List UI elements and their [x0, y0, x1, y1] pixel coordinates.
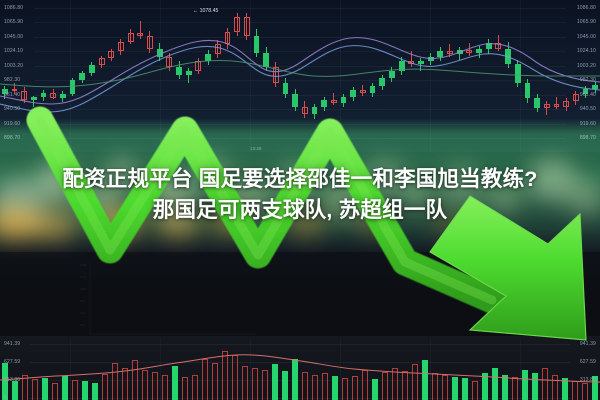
volume-bar	[252, 368, 258, 400]
price-axis-tick-label: 1045.00	[4, 34, 23, 40]
candle-body	[495, 43, 501, 49]
candle-body	[244, 17, 250, 36]
candle-body	[147, 36, 153, 48]
price-axis-tick-label: 1003.20	[577, 63, 596, 69]
ghost-chart-overlay: 108010401000 960920880	[80, 254, 260, 340]
candle-body	[312, 107, 318, 114]
volume-bar	[22, 375, 28, 400]
candle-body	[525, 83, 531, 98]
price-axis-tick-label: 982.30	[580, 77, 596, 83]
volume-grid-line-vertical	[160, 338, 161, 400]
volume-bar	[502, 375, 508, 400]
page-title: 配资正规平台 国足要选择邵佳一和李国旭当教练? 那国足可两支球队, 苏超组一队	[0, 164, 600, 226]
candle-body	[176, 67, 182, 75]
candle-body	[118, 42, 124, 52]
candle-body	[399, 61, 405, 71]
volume-bar	[492, 368, 498, 400]
volume-bar	[462, 378, 468, 400]
candle-body	[166, 57, 172, 67]
volume-bar	[132, 360, 138, 400]
volume-bar	[522, 370, 528, 400]
volume-bar	[182, 377, 188, 400]
volume-axis-tick-label: 627.59	[580, 359, 596, 365]
candle-body	[41, 93, 47, 97]
volume-bar	[372, 379, 378, 400]
volume-bar	[42, 378, 48, 400]
candle-body	[476, 49, 482, 53]
volume-bar	[172, 366, 178, 400]
volume-bar	[192, 375, 198, 400]
candle-body	[466, 50, 472, 53]
volume-bar	[392, 368, 398, 400]
candle-body	[273, 67, 279, 84]
volume-axis-tick-label: 941.39	[580, 341, 596, 347]
thumbnail-canvas: ← 1078.45 1086.801065.901045.001024.1010…	[0, 0, 600, 400]
volume-bar	[312, 375, 318, 400]
volume-bar	[72, 380, 78, 400]
svg-text:920: 920	[80, 311, 85, 315]
volume-bar	[472, 381, 478, 400]
candle-body	[234, 17, 240, 32]
volume-bar	[282, 371, 288, 400]
candle-body	[263, 53, 269, 67]
volume-bar	[202, 359, 208, 400]
candle-body	[205, 54, 211, 61]
volume-bar	[342, 378, 348, 400]
candle-wick	[140, 21, 141, 39]
svg-text:1000: 1000	[80, 287, 87, 291]
volume-bar	[352, 376, 358, 400]
candle-body	[89, 65, 95, 73]
candle-body	[108, 51, 114, 58]
price-axis-tick-label: 1003.20	[4, 63, 23, 69]
volume-bar	[102, 374, 108, 400]
volume-bar	[572, 381, 578, 400]
candle-body	[50, 93, 56, 98]
volume-bar	[82, 381, 88, 400]
volume-grid-line-vertical	[250, 338, 251, 400]
volume-bar	[302, 372, 308, 400]
volume-bar	[532, 373, 538, 400]
candle-body	[389, 71, 395, 78]
volume-bar	[92, 383, 98, 400]
price-axis-tick-label: 1045.00	[577, 34, 596, 40]
volume-bar	[512, 377, 518, 400]
volume-bar	[62, 376, 68, 400]
headline-line-1: 配资正规平台 国足要选择邵佳一和李国旭当教练?	[62, 167, 537, 191]
volume-grid-line-vertical	[430, 338, 431, 400]
volume-bar	[452, 377, 458, 400]
candle-body	[70, 80, 76, 93]
volume-bar	[12, 381, 18, 400]
candle-body	[554, 104, 560, 107]
volume-bar	[362, 370, 368, 400]
volume-axis-tick-label: 313.80	[4, 377, 20, 383]
volume-axis-tick-label: 941.39	[4, 341, 20, 347]
candle-body	[215, 44, 221, 54]
candle-body	[447, 51, 453, 54]
candle-body	[331, 100, 337, 103]
price-axis-tick-label: 1086.80	[577, 5, 596, 11]
candle-wick	[411, 51, 412, 66]
candle-body	[418, 61, 424, 64]
candle-body	[225, 32, 231, 44]
volume-bar	[322, 373, 328, 400]
candle-body	[157, 49, 163, 57]
price-axis-tick-label: 1024.10	[577, 48, 596, 54]
svg-text:960: 960	[80, 299, 85, 303]
candle-body	[254, 36, 260, 53]
volume-bar	[272, 364, 278, 400]
headline-line-2: 那国足可两支球队, 苏超组一队	[0, 195, 600, 226]
candle-body	[60, 94, 66, 98]
candle-body	[437, 51, 443, 57]
volume-bar	[422, 360, 428, 400]
price-axis-tick-label: 940.50	[4, 106, 20, 112]
volume-bar	[52, 383, 58, 400]
candle-body	[195, 61, 201, 71]
volume-bar	[542, 368, 548, 400]
candle-body	[360, 90, 366, 93]
volume-moving-average	[0, 336, 600, 400]
candle-body	[21, 91, 27, 100]
candle-body	[79, 73, 85, 81]
volume-bar	[562, 378, 568, 400]
volume-grid-line-vertical	[520, 338, 521, 400]
volume-bar	[32, 379, 38, 400]
svg-text:880: 880	[80, 323, 85, 327]
price-axis-tick-label: 1065.90	[4, 19, 23, 25]
candle-body	[428, 57, 434, 61]
volume-axis-tick-label: 0	[4, 395, 7, 400]
candle-body	[341, 97, 347, 103]
candle-body	[486, 43, 492, 49]
candle-body	[563, 101, 569, 107]
volume-bar	[212, 363, 218, 400]
candle-body	[515, 64, 521, 83]
volume-bar	[262, 370, 268, 400]
volume-bar	[482, 373, 488, 400]
price-axis-tick-label: 1065.90	[577, 19, 596, 25]
volume-bar	[112, 363, 118, 400]
price-axis-tick-label: 1024.10	[4, 48, 23, 54]
candle-body	[31, 97, 37, 100]
candle-body	[321, 100, 327, 107]
volume-bar	[382, 372, 388, 400]
volume-bar	[432, 373, 438, 400]
candle-body	[457, 50, 463, 54]
volume-bar	[222, 351, 228, 400]
volume-bar	[582, 383, 588, 400]
svg-text:1080: 1080	[80, 263, 87, 267]
candle-body	[379, 78, 385, 86]
volume-grid-line	[30, 344, 570, 345]
candle-body	[408, 61, 414, 64]
price-axis-tick-label: 940.50	[580, 106, 596, 112]
volume-bar	[402, 371, 408, 400]
candle-body	[505, 49, 511, 64]
volume-bar	[162, 375, 168, 400]
candle-body	[573, 94, 579, 101]
volume-bar	[412, 364, 418, 400]
price-axis-tick-label: 961.40	[4, 92, 20, 98]
candle-body	[137, 33, 143, 36]
candle-body	[186, 71, 192, 75]
volume-bar	[442, 375, 448, 400]
volume-grid-line-vertical	[70, 338, 71, 400]
volume-axis-tick-label: 627.59	[4, 359, 20, 365]
candle-body	[370, 86, 376, 93]
price-axis-tick-label: 1086.80	[4, 5, 23, 11]
volume-bar	[122, 368, 128, 400]
price-axis-tick-label: 982.30	[4, 77, 20, 83]
candle-body	[534, 98, 540, 108]
price-peak-annotation: ← 1078.45	[193, 8, 218, 14]
volume-grid-line-vertical	[340, 338, 341, 400]
volume-axis-tick-label: 313.80	[580, 377, 596, 383]
volume-bar	[142, 370, 148, 400]
candle-body	[350, 90, 356, 97]
svg-text:1040: 1040	[80, 275, 87, 279]
volume-chart-panel	[0, 336, 600, 400]
candle-body	[283, 83, 289, 94]
volume-bar	[552, 375, 558, 400]
volume-bar	[232, 355, 238, 400]
candle-body	[99, 58, 105, 65]
candle-body	[544, 104, 550, 108]
volume-bar	[152, 372, 158, 400]
volume-bar	[242, 366, 248, 400]
candle-body	[292, 94, 298, 106]
price-axis-tick-label: 961.40	[580, 92, 596, 98]
candle-body	[302, 107, 308, 114]
volume-bar	[292, 359, 298, 400]
candle-body	[128, 33, 134, 41]
candle-body	[592, 85, 598, 89]
volume-bar	[332, 376, 338, 400]
